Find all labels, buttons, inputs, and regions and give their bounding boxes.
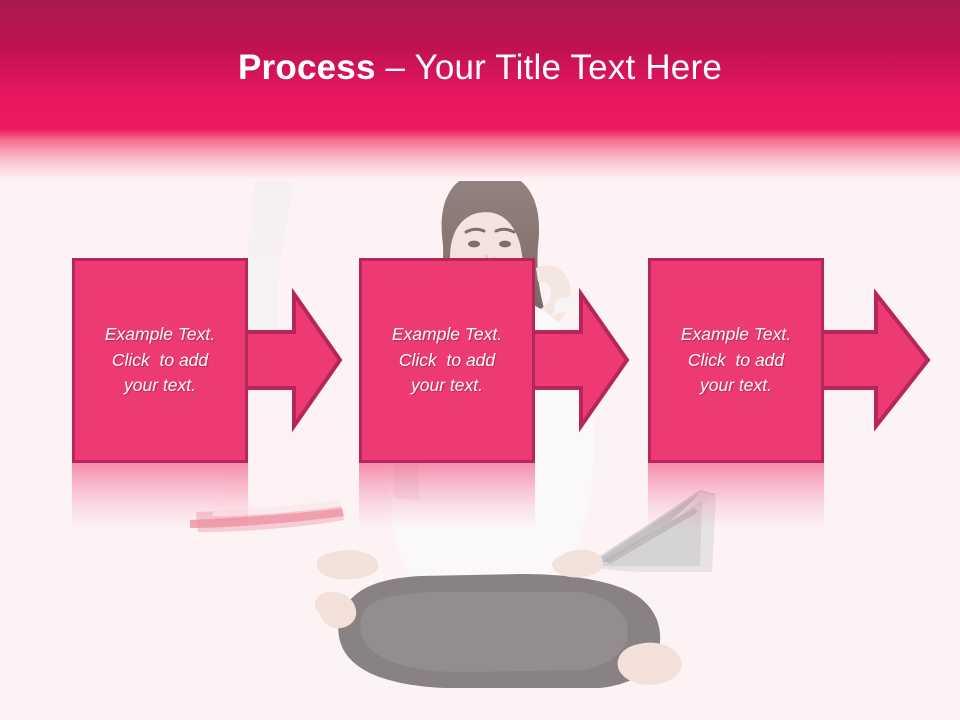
- step-text-line-1: Example Text.: [105, 322, 215, 348]
- process-step-1[interactable]: Example Text. Click to add your text.: [72, 258, 248, 463]
- step-text-line-3: your text.: [105, 373, 215, 399]
- right-arrow-icon: [808, 290, 930, 430]
- step-text-line-2: Click to add: [105, 348, 215, 374]
- step-text-2: Example Text. Click to add your text.: [384, 322, 510, 400]
- step-text-line-3: your text.: [681, 373, 791, 399]
- step-text-1: Example Text. Click to add your text.: [97, 322, 223, 400]
- step-box-3[interactable]: Example Text. Click to add your text.: [648, 258, 824, 463]
- presentation-slide: Process – Your Title Text Here Example T…: [0, 0, 960, 720]
- process-step-2[interactable]: Example Text. Click to add your text.: [359, 258, 535, 463]
- right-arrow-icon: [519, 290, 629, 430]
- process-step-3[interactable]: Example Text. Click to add your text.: [648, 258, 824, 463]
- step-box-2[interactable]: Example Text. Click to add your text.: [359, 258, 535, 463]
- step-text-line-3: your text.: [392, 373, 502, 399]
- page-title-bold: Process: [238, 48, 376, 87]
- step-text-line-1: Example Text.: [681, 322, 791, 348]
- right-arrow-icon: [232, 290, 342, 430]
- step-reflection-2: [359, 463, 535, 529]
- step-reflection-1: [72, 463, 248, 529]
- step-text-line-2: Click to add: [681, 348, 791, 374]
- step-text-line-2: Click to add: [392, 348, 502, 374]
- slide-header-fade: [0, 129, 960, 181]
- step-reflection-3: [648, 463, 824, 529]
- page-title-rest: – Your Title Text Here: [376, 48, 722, 87]
- page-title: Process – Your Title Text Here: [0, 0, 960, 129]
- step-box-1[interactable]: Example Text. Click to add your text.: [72, 258, 248, 463]
- step-text-line-1: Example Text.: [392, 322, 502, 348]
- step-text-3: Example Text. Click to add your text.: [673, 322, 799, 400]
